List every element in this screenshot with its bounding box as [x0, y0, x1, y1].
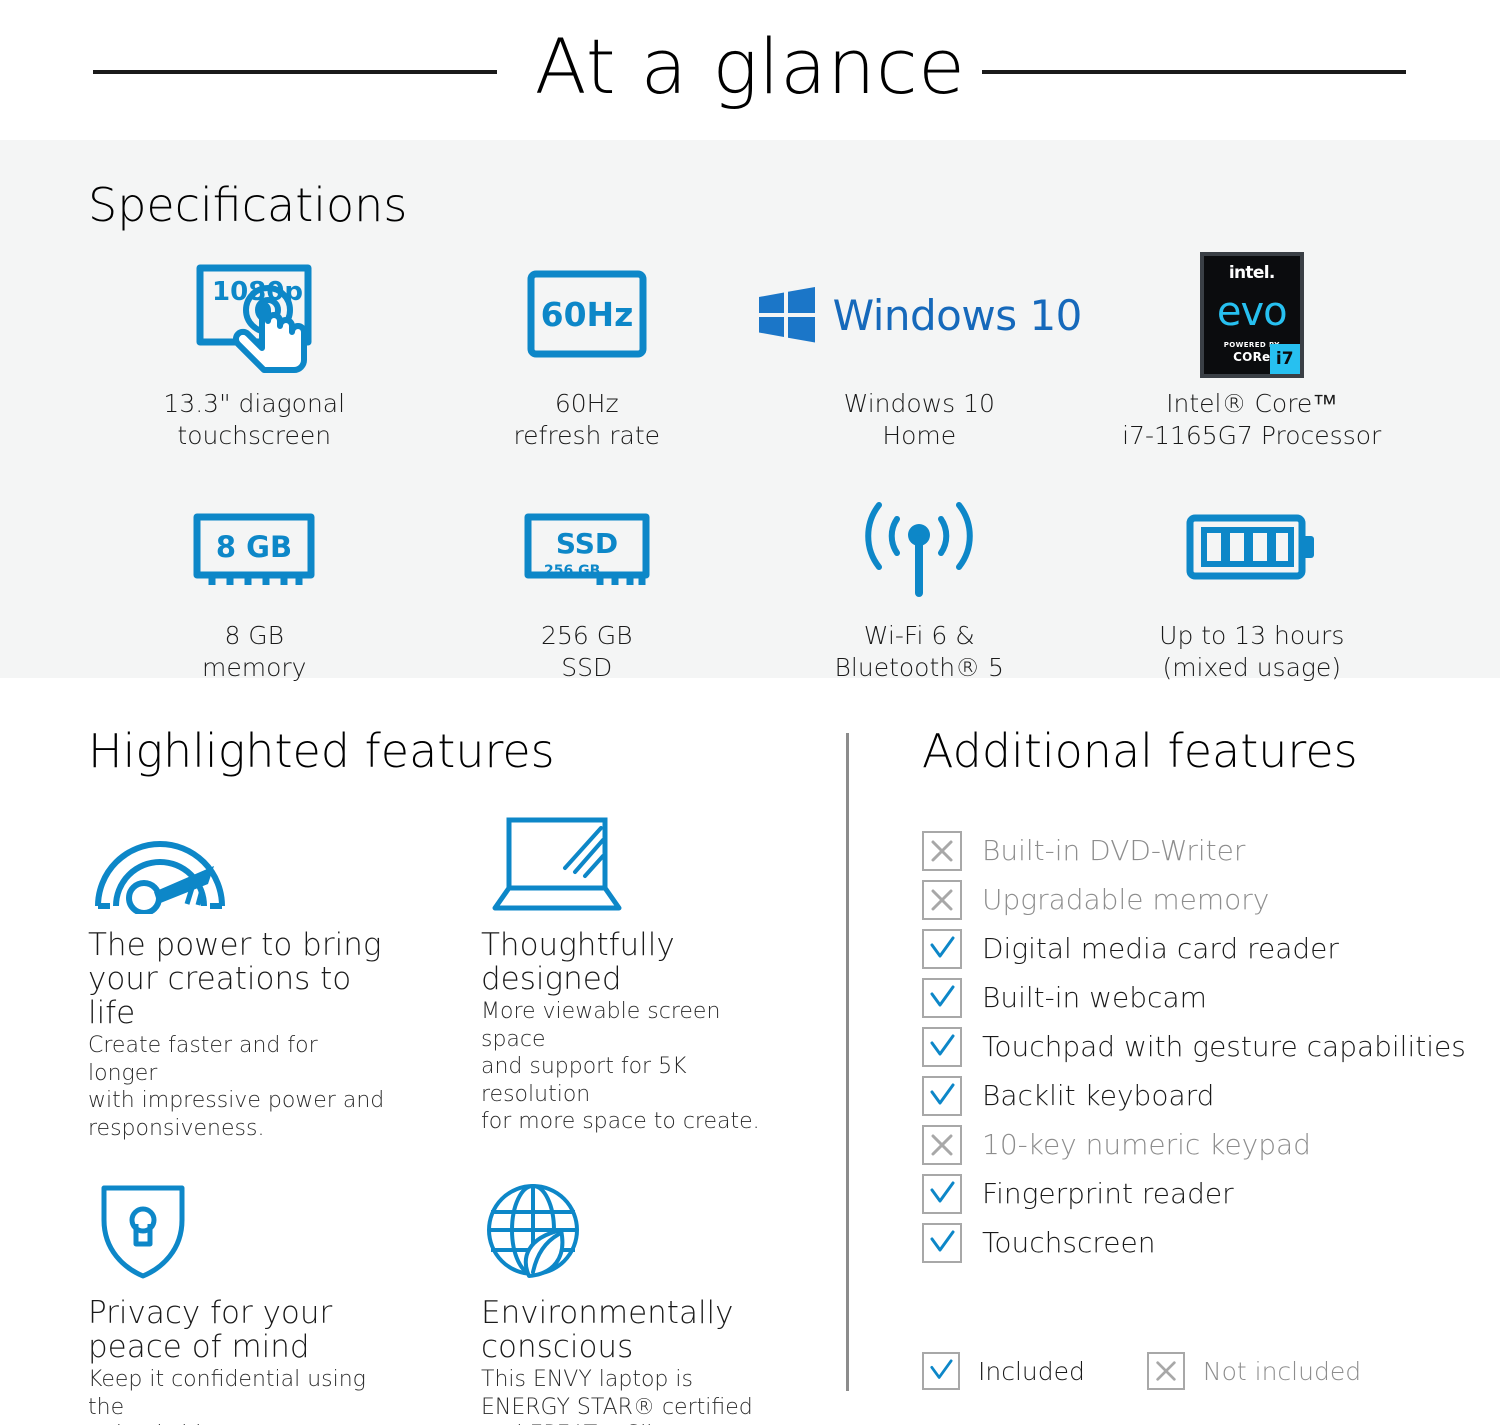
additional-features-list: Built-in DVD-Writer Upgradable memory Di…	[922, 826, 1482, 1267]
globe-leaf-icon	[481, 1174, 781, 1282]
list-item-label: Touchpad with gesture capabilities	[982, 1033, 1466, 1061]
legend-check-icon	[922, 1352, 960, 1390]
svg-text:60Hz: 60Hz	[540, 295, 633, 334]
specifications-title: Specifications	[88, 182, 407, 228]
svg-text:256 GB: 256 GB	[544, 563, 600, 579]
windows-logo-icon: Windows 10	[757, 252, 1082, 378]
spec-label-storage: 256 GB SSD	[541, 620, 632, 684]
list-item[interactable]: Touchscreen	[922, 1218, 1482, 1267]
page-title: At a glance	[535, 29, 966, 111]
spec-item-processor: intel. evo POWERED BY CORe i7 Intel® Cor…	[1086, 252, 1419, 452]
spec-item-battery: Up to 13 hours (mixed usage)	[1086, 484, 1419, 684]
spec-item-touchscreen: 1080p 13.3" diagonal touchscreen	[88, 252, 421, 452]
highlighted-features-title: Highlighted features	[88, 728, 555, 774]
touchscreen-1080p-icon: 1080p	[184, 252, 324, 378]
highlighted-feature-power: The power to bring your creations to lif…	[88, 806, 388, 1142]
highlighted-feature-heading: Privacy for your peace of mind	[88, 1296, 388, 1364]
highlighted-feature-heading: Thoughtfully designed	[481, 928, 781, 996]
wifi-signal-icon	[853, 484, 985, 610]
spec-label-refresh-rate: 60Hz refresh rate	[513, 388, 660, 452]
spec-label-memory: 8 GB memory	[202, 620, 306, 684]
list-item-label: Upgradable memory	[982, 886, 1269, 914]
cross-icon	[922, 1125, 962, 1165]
spec-label-wireless: Wi-Fi 6 & Bluetooth® 5	[835, 620, 1004, 684]
check-icon	[922, 1076, 962, 1116]
svg-text:SSD: SSD	[556, 527, 618, 560]
intel-evo-badge-icon: intel. evo POWERED BY CORe i7	[1200, 252, 1304, 378]
windows-flag-icon	[757, 287, 817, 343]
list-item-label: Built-in webcam	[982, 984, 1207, 1012]
highlighted-feature-heading: Environmentally conscious	[481, 1296, 781, 1364]
legend-included-label: Included	[978, 1357, 1085, 1386]
check-icon	[922, 929, 962, 969]
legend-not-included-label: Not included	[1203, 1357, 1361, 1386]
memory-module-icon: 8 GB	[187, 484, 321, 610]
header: At a glance	[0, 0, 1500, 140]
battery-icon	[1182, 484, 1322, 610]
ssd-module-icon: SSD 256 GB	[518, 484, 656, 610]
windows-logo-text: Windows 10	[833, 291, 1082, 340]
additional-features-title: Additional features	[922, 728, 1358, 774]
list-item[interactable]: Built-in webcam	[922, 973, 1482, 1022]
highlighted-feature-heading: The power to bring your creations to lif…	[88, 928, 388, 1030]
refresh-rate-icon: 60Hz	[523, 252, 651, 378]
list-item-label: Digital media card reader	[982, 935, 1339, 963]
highlighted-feature-body: Create faster and for longer with impres…	[88, 1032, 388, 1142]
intel-core-text: CORe	[1233, 350, 1270, 364]
list-item-label: Touchscreen	[982, 1229, 1155, 1257]
svg-text:8 GB: 8 GB	[216, 530, 292, 564]
checklist-legend: Included Not included	[922, 1352, 1361, 1390]
highlighted-feature-body: This ENVY laptop is ENERGY STAR® certifi…	[481, 1366, 781, 1425]
cross-icon	[922, 880, 962, 920]
spec-item-storage: SSD 256 GB 256 GB SSD	[421, 484, 754, 684]
list-item-label: 10-key numeric keypad	[982, 1131, 1311, 1159]
laptop-screen-icon	[481, 806, 781, 914]
list-item[interactable]: Backlit keyboard	[922, 1071, 1482, 1120]
shield-keyhole-icon	[88, 1174, 388, 1282]
highlighted-feature-body: More viewable screen space and support f…	[481, 998, 781, 1136]
header-rule-right	[982, 70, 1406, 74]
highlighted-feature-environment: Environmentally conscious This ENVY lapt…	[481, 1174, 781, 1425]
specifications-grid: 1080p 13.3" diagonal touchscreen 60Hz	[88, 252, 1418, 684]
check-icon	[922, 1174, 962, 1214]
list-item[interactable]: Touchpad with gesture capabilities	[922, 1022, 1482, 1071]
spec-label-windows: Windows 10 Home	[844, 388, 995, 452]
check-icon	[922, 1027, 962, 1067]
at-a-glance-infographic: At a glance Specifications 1080p 13.3" d…	[0, 0, 1500, 1425]
cross-icon	[922, 831, 962, 871]
list-item[interactable]: 10-key numeric keypad	[922, 1120, 1482, 1169]
list-item[interactable]: Digital media card reader	[922, 924, 1482, 973]
highlighted-features-grid: The power to bring your creations to lif…	[88, 806, 788, 1425]
column-divider	[846, 733, 849, 1391]
highlighted-feature-body: Keep it confidential using the unhackabl…	[88, 1366, 388, 1425]
intel-evo-text: evo	[1217, 292, 1287, 332]
spec-item-refresh-rate: 60Hz 60Hz refresh rate	[421, 252, 754, 452]
list-item-label: Built-in DVD-Writer	[982, 837, 1245, 865]
highlighted-feature-design: Thoughtfully designed More viewable scre…	[481, 806, 781, 1142]
list-item[interactable]: Upgradable memory	[922, 875, 1482, 924]
highlighted-feature-privacy: Privacy for your peace of mind Keep it c…	[88, 1174, 388, 1425]
intel-brand-text: intel.	[1229, 263, 1275, 283]
spec-label-touchscreen: 13.3" diagonal touchscreen	[163, 388, 345, 452]
list-item[interactable]: Built-in DVD-Writer	[922, 826, 1482, 875]
list-item-label: Backlit keyboard	[982, 1082, 1214, 1110]
legend-cross-icon	[1147, 1352, 1185, 1390]
lower-section: Highlighted features Additional features	[0, 678, 1500, 1425]
spec-item-memory: 8 GB 8 GB memory	[88, 484, 421, 684]
list-item-label: Fingerprint reader	[982, 1180, 1234, 1208]
spec-item-windows: Windows 10 Windows 10 Home	[753, 252, 1086, 452]
list-item[interactable]: Fingerprint reader	[922, 1169, 1482, 1218]
check-icon	[922, 1223, 962, 1263]
speedometer-icon	[88, 806, 388, 914]
spec-item-wireless: Wi-Fi 6 & Bluetooth® 5	[753, 484, 1086, 684]
header-rule-left	[93, 70, 497, 74]
check-icon	[922, 978, 962, 1018]
spec-label-battery: Up to 13 hours (mixed usage)	[1159, 620, 1344, 684]
spec-label-processor: Intel® Core™ i7-1165G7 Processor	[1122, 388, 1381, 452]
specifications-panel: Specifications 1080p 13.3" diagonal touc…	[0, 140, 1500, 678]
intel-chip-tier-text: i7	[1270, 344, 1300, 374]
